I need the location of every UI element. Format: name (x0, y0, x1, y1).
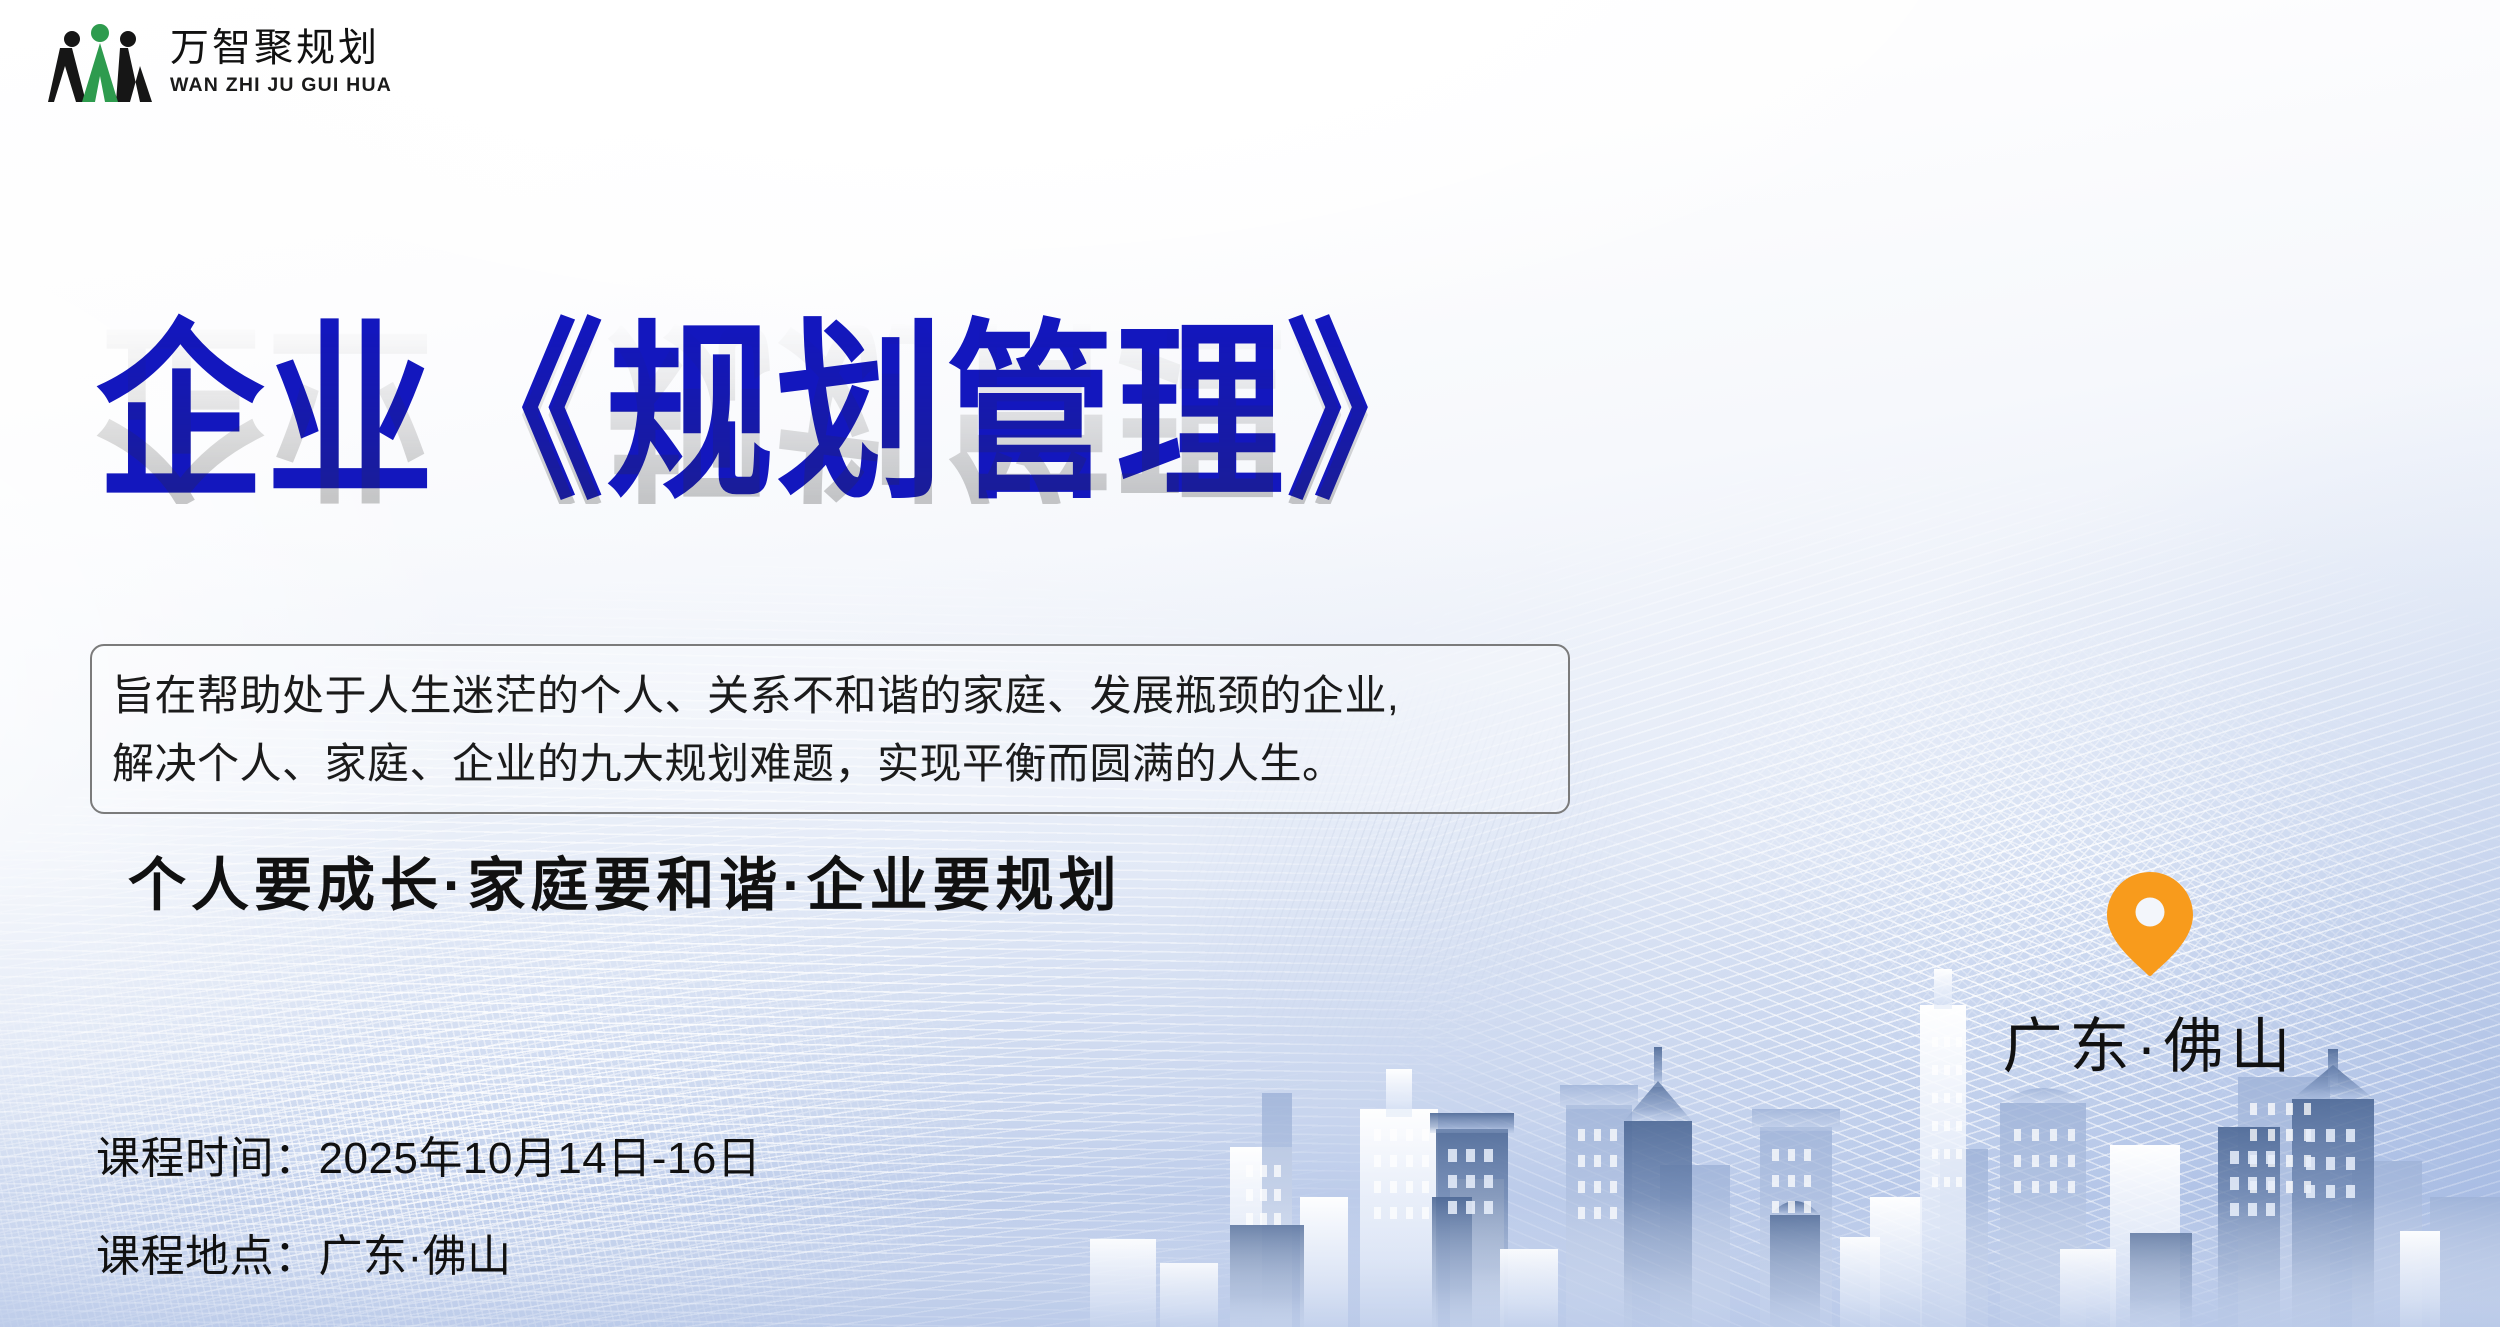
location-badge: 广东·佛山 (1950, 872, 2350, 1085)
poster-canvas: 万智聚规划 WAN ZHI JU GUI HUA 企业《规划管理》 企业《规划管… (0, 0, 2500, 1327)
location-city: 广东·佛山 (2003, 998, 2298, 1085)
course-info: 课程时间：2025年10月14日-16日 课程地点：广东·佛山 (96, 1122, 761, 1284)
tagline: 个人要成长·家庭要和谐·企业要规划 (128, 838, 1122, 922)
brand-logo-text: 万智聚规划 WAN ZHI JU GUI HUA (170, 28, 392, 98)
course-time: 课程时间：2025年10月14日-16日 (96, 1122, 761, 1186)
course-place: 课程地点：广东·佛山 (96, 1220, 761, 1284)
map-pin-icon (2107, 872, 2193, 976)
brand-name-en: WAN ZHI JU GUI HUA (170, 74, 392, 97)
description-line-1: 旨在帮助处于人生迷茫的个人、关系不和谐的家庭、发展瓶颈的企业, (112, 662, 1550, 730)
brand-logo[interactable]: 万智聚规划 WAN ZHI JU GUI HUA (48, 22, 392, 104)
brand-name-cn: 万智聚规划 (170, 28, 392, 70)
description-box: 旨在帮助处于人生迷茫的个人、关系不和谐的家庭、发展瓶颈的企业, 解决个人、家庭、… (90, 644, 1570, 814)
description-line-2: 解决个人、家庭、企业的九大规划难题，实现平衡而圆满的人生。 (112, 730, 1550, 798)
three-people-m-logo-icon (48, 22, 152, 104)
page-title: 企业《规划管理》 企业《规划管理》 (96, 318, 1716, 648)
page-title-reflection: 企业《规划管理》 (96, 312, 1456, 504)
